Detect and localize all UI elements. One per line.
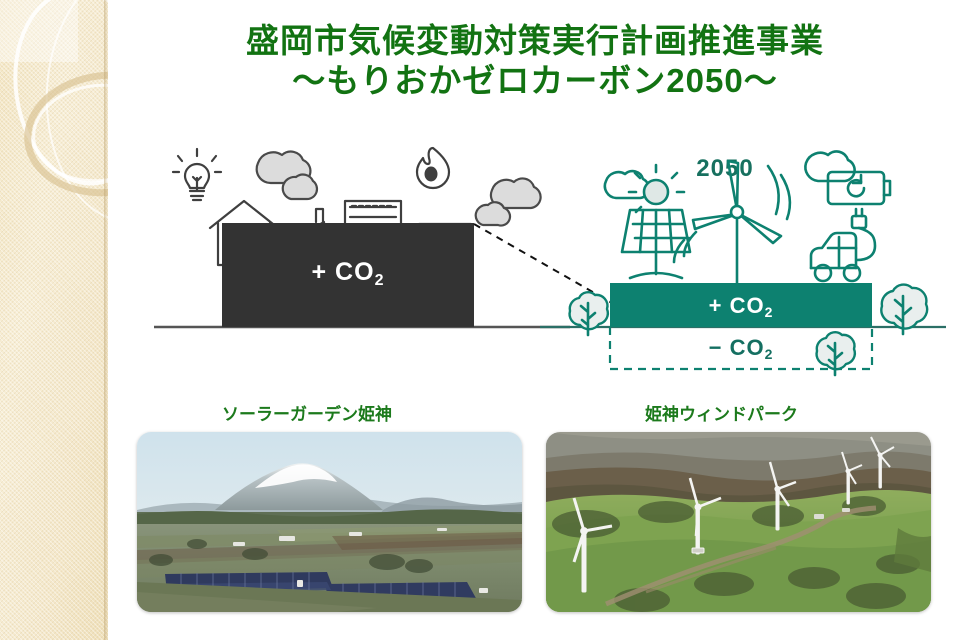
cloud-icon-right (805, 151, 854, 181)
band-edge-shadow (104, 0, 108, 640)
lightbulb-icon (173, 149, 221, 200)
solar-garden-photo (137, 432, 522, 612)
wind-turbine-icon (674, 161, 790, 297)
slide-title: 盛岡市気候変動対策実行計画推進事業 〜もりおかゼロカーボン2050〜 (118, 22, 952, 102)
solar-garden-caption: ソーラーガーデン姫神 (222, 400, 392, 425)
future-plus-co2-label: + CO2 (709, 293, 774, 320)
battery-recycle-icon (828, 172, 890, 204)
wind-park-photo (546, 432, 931, 612)
zero-carbon-infographic: .ln{fill:none;stroke:#3f3f3f;stroke-widt… (140, 128, 950, 393)
wind-park-caption: 姫神ウィンドパーク (645, 400, 798, 425)
flame-icon (417, 148, 449, 188)
dashed-connector-line (474, 224, 612, 303)
smoke-cloud-icon (257, 152, 317, 199)
future-net-zero-group: 2050 (570, 151, 928, 375)
decorative-sidebar-band (0, 0, 108, 640)
tree-icon-left (570, 292, 608, 335)
present-co2-label: + CO2 (312, 258, 385, 289)
slide-canvas: 盛岡市気候変動対策実行計画推進事業 〜もりおかゼロカーボン2050〜 .ln{f… (0, 0, 960, 640)
smoke-cloud-icon-2 (476, 178, 541, 225)
solar-panel-icon (622, 165, 690, 278)
future-minus-co2-label: − CO2 (709, 335, 774, 362)
electric-car-icon (811, 209, 875, 281)
year-2050-label: 2050 (696, 155, 753, 182)
title-line-2: 〜もりおかゼロカーボン2050〜 (118, 60, 952, 102)
cloud-icon-left (605, 171, 649, 198)
present-emissions-group: + CO2 (173, 148, 541, 327)
title-line-1: 盛岡市気候変動対策実行計画推進事業 (118, 22, 952, 60)
